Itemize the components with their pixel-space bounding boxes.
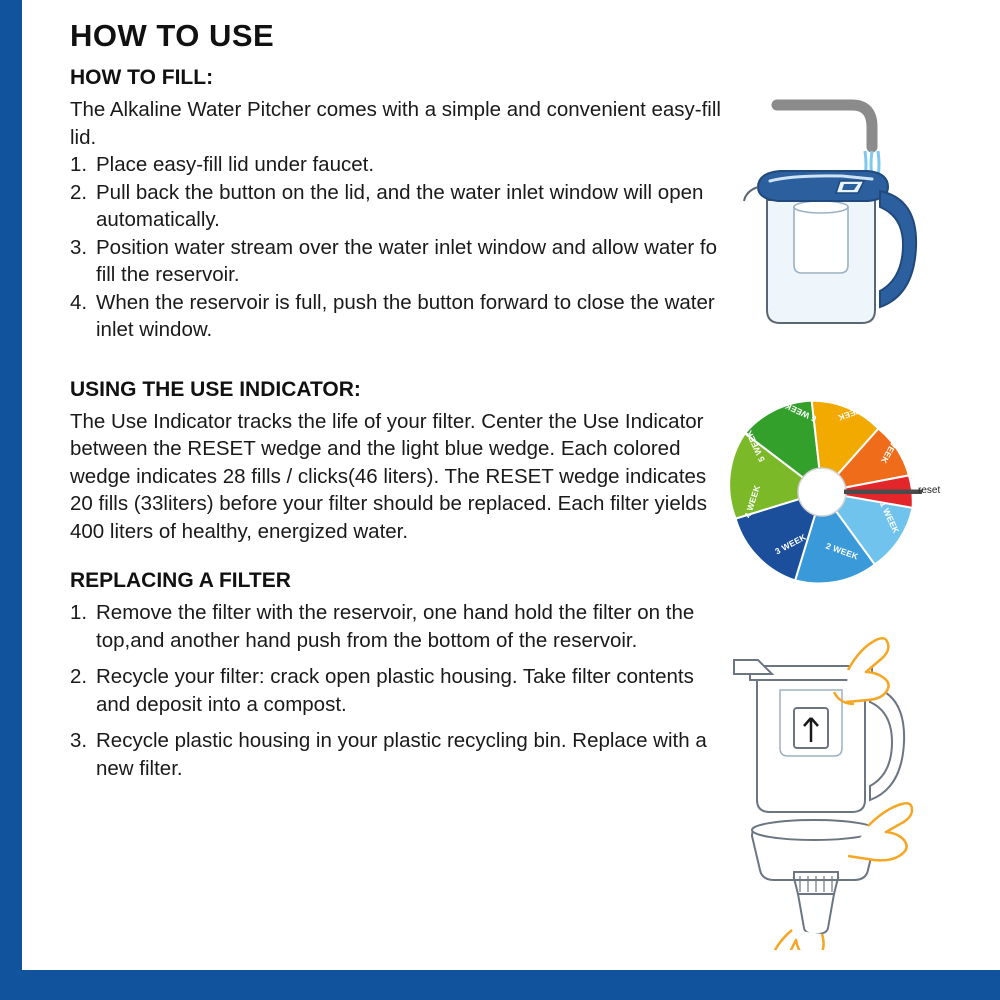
step-number: 1.: [70, 599, 96, 654]
left-accent-bar: [0, 0, 22, 1000]
spacer: [70, 545, 730, 569]
pitcher-under-faucet-illustration: [722, 95, 982, 335]
section-heading: HOW TO FILL:: [70, 66, 730, 90]
step-number: 2.: [70, 663, 96, 718]
section-intro: The Use Indicator tracks the life of you…: [70, 408, 730, 546]
step-number: 3.: [70, 727, 96, 782]
step-text: When the reservoir is full, push the but…: [96, 289, 730, 344]
list-item: 4. When the reservoir is full, push the …: [70, 289, 730, 344]
steps-list: 1. Remove the filter with the reservoir,…: [70, 599, 730, 782]
list-item: 1. Place easy-fill lid under faucet.: [70, 151, 730, 179]
section-heading: USING THE USE INDICATOR:: [70, 378, 730, 402]
use-indicator-wheel: 1 WEEK 2 WEEK 3 WEEK 4 WEEK 5 WEEK 6 WEE…: [722, 385, 937, 600]
text-column: HOW TO USE HOW TO FILL: The Alkaline Wat…: [70, 18, 730, 791]
page-title: HOW TO USE: [70, 18, 730, 54]
list-item: 2. Pull back the button on the lid, and …: [70, 179, 730, 234]
reset-label: reset: [918, 485, 940, 496]
step-number: 2.: [70, 179, 96, 234]
steps-list: 1. Place easy-fill lid under faucet. 2. …: [70, 151, 730, 344]
step-number: 1.: [70, 151, 96, 179]
bottom-accent-bar: [0, 970, 1000, 1000]
section-use-indicator: USING THE USE INDICATOR: The Use Indicat…: [70, 378, 730, 546]
step-text: Recycle your filter: crack open plastic …: [96, 663, 730, 718]
section-replacing-filter: REPLACING A FILTER 1. Remove the filter …: [70, 569, 730, 782]
step-text: Remove the filter with the reservoir, on…: [96, 599, 730, 654]
step-text: Recycle plastic housing in your plastic …: [96, 727, 730, 782]
section-heading: REPLACING A FILTER: [70, 569, 730, 593]
list-item: 3. Position water stream over the water …: [70, 234, 730, 289]
section-how-to-fill: HOW TO FILL: The Alkaline Water Pitcher …: [70, 66, 730, 344]
step-number: 4.: [70, 289, 96, 344]
step-text: Place easy-fill lid under faucet.: [96, 151, 730, 179]
list-item: 3. Recycle plastic housing in your plast…: [70, 727, 730, 782]
use-indicator-wheel-illustration: 1 WEEK 2 WEEK 3 WEEK 4 WEEK 5 WEEK 6 WEE…: [722, 385, 962, 600]
section-intro: The Alkaline Water Pitcher comes with a …: [70, 96, 730, 151]
step-text: Pull back the button on the lid, and the…: [96, 179, 730, 234]
list-item: 1. Remove the filter with the reservoir,…: [70, 599, 730, 654]
list-item: 2. Recycle your filter: crack open plast…: [70, 663, 730, 718]
spacer: [70, 344, 730, 378]
instruction-page: HOW TO USE HOW TO FILL: The Alkaline Wat…: [22, 0, 1000, 970]
replacing-filter-illustration: [722, 630, 972, 950]
step-number: 3.: [70, 234, 96, 289]
step-text: Position water stream over the water inl…: [96, 234, 730, 289]
